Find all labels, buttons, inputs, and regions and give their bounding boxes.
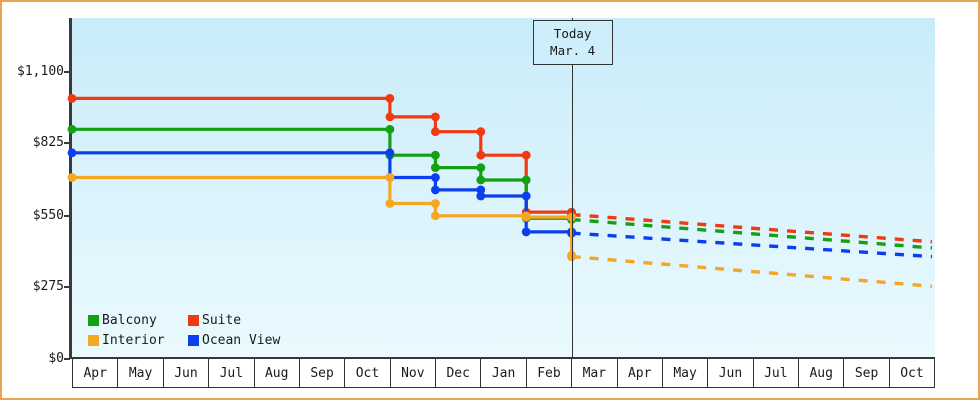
x-axis-month-label: Oct [356,366,379,381]
legend-item-balcony[interactable]: Balcony [88,313,188,328]
x-axis-month-label: May [673,366,696,381]
today-date: Mar. 4 [534,42,612,59]
y-tick-0: $0 [0,351,64,365]
x-axis-month-cell[interactable]: May [663,359,708,387]
x-axis-month-label: Oct [900,366,923,381]
legend-label: Balcony [102,313,157,328]
y-tick-550: $550 [0,208,64,222]
x-axis-month-cell[interactable]: Apr [618,359,663,387]
x-axis-month-label: Dec [446,366,469,381]
legend-label: Suite [202,313,241,328]
y-tick-label: $550 [33,208,64,223]
x-axis-month-label: Nov [401,366,424,381]
x-axis-month-cell[interactable]: Jul [754,359,799,387]
x-axis-month-cell[interactable]: Jun [708,359,753,387]
x-axis-month-label: Jul [220,366,243,381]
x-axis-month-cell[interactable]: Nov [391,359,436,387]
x-axis-month-cell[interactable]: Sep [844,359,889,387]
y-tick-825: $825 [0,135,64,149]
legend-swatch-suite [188,315,199,326]
y-tick-275: $275 [0,279,64,293]
x-axis-month-cell[interactable]: Sep [300,359,345,387]
x-axis-month-label: Jan [492,366,515,381]
legend-label: Interior [102,333,165,348]
x-axis-month-label: Aug [809,366,832,381]
legend-label: Ocean View [202,333,280,348]
price-history-chart: $1,100 $825 $550 $275 $0 Today Mar. 4 Ba… [0,0,980,400]
x-axis-month-cell[interactable]: Aug [799,359,844,387]
y-tick-label: $1,100 [17,64,64,79]
y-axis-line [69,18,72,359]
today-marker-box: Today Mar. 4 [533,20,613,65]
legend-swatch-balcony [88,315,99,326]
legend-swatch-ocean-view [188,335,199,346]
x-axis-month-label: May [129,366,152,381]
x-axis-month-cell[interactable]: May [118,359,163,387]
x-axis-month-label: Sep [855,366,878,381]
today-label: Today [534,25,612,42]
y-tick-1100: $1,100 [0,64,64,78]
x-axis-month-row: AprMayJunJulAugSepOctNovDecJanFebMarAprM… [72,358,935,388]
x-axis-month-label: Jun [719,366,742,381]
y-tick-label: $825 [33,135,64,150]
x-axis-month-cell[interactable]: Dec [436,359,481,387]
x-axis-month-cell[interactable]: Jun [164,359,209,387]
plot-background [72,18,935,358]
x-axis-month-label: Feb [537,366,560,381]
y-tick-label: $275 [33,279,64,294]
legend-row: Balcony Suite [88,310,280,330]
today-vertical-line [572,18,573,358]
legend: Balcony Suite Interior Ocean View [88,310,280,350]
x-axis-month-cell[interactable]: Oct [890,359,934,387]
x-axis-month-label: Aug [265,366,288,381]
x-axis-month-cell[interactable]: Aug [255,359,300,387]
x-axis-month-cell[interactable]: Feb [527,359,572,387]
legend-row: Interior Ocean View [88,330,280,350]
x-axis-month-cell[interactable]: Apr [73,359,118,387]
legend-item-suite[interactable]: Suite [188,313,241,328]
x-axis-month-label: Jun [174,366,197,381]
legend-swatch-interior [88,335,99,346]
x-axis-month-label: Sep [310,366,333,381]
x-axis-month-label: Mar [583,366,606,381]
x-axis-month-label: Apr [628,366,651,381]
y-tick-label: $0 [48,351,64,366]
legend-item-ocean-view[interactable]: Ocean View [188,333,280,348]
x-axis-month-cell[interactable]: Oct [345,359,390,387]
x-axis-month-label: Apr [83,366,106,381]
x-axis-month-cell[interactable]: Jan [481,359,526,387]
legend-item-interior[interactable]: Interior [88,333,188,348]
x-axis-month-label: Jul [764,366,787,381]
x-axis-month-cell[interactable]: Jul [209,359,254,387]
x-axis-month-cell[interactable]: Mar [572,359,617,387]
